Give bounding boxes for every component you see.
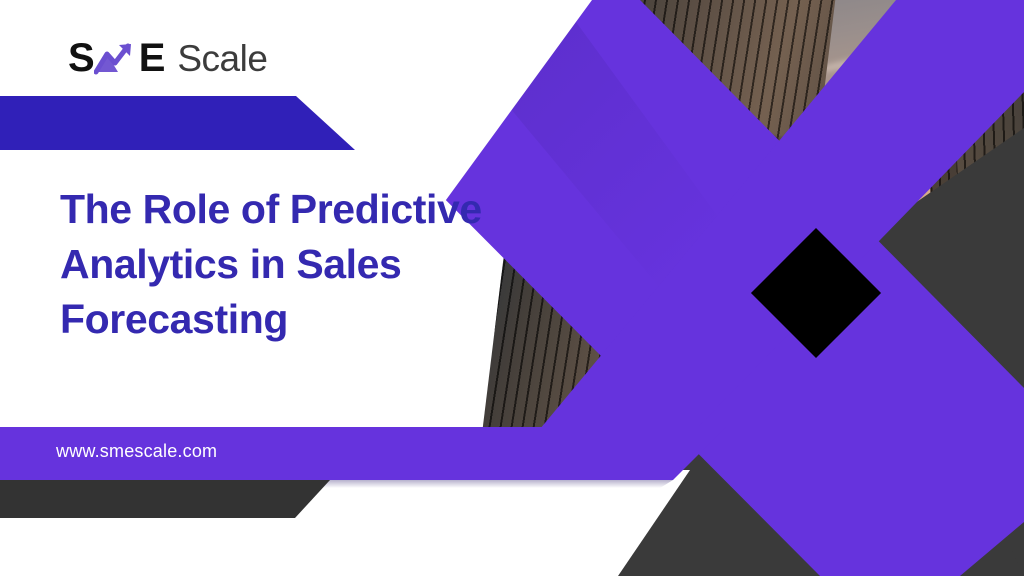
logo-letter-s: S	[68, 38, 94, 78]
logo-word-scale: Scale	[177, 40, 267, 77]
page-title: The Role of Predictive Analytics in Sale…	[60, 182, 580, 346]
charcoal-footer-bar	[0, 480, 330, 518]
logo-letter-e: E	[139, 38, 165, 78]
brand-logo[interactable]: S E Scale	[68, 36, 267, 80]
website-url[interactable]: www.smescale.com	[56, 441, 217, 462]
indigo-accent-banner	[0, 96, 355, 150]
slide-canvas: S E Scale The Role of Predictive Analyti…	[0, 0, 1024, 576]
growth-arrow-icon	[94, 41, 138, 75]
